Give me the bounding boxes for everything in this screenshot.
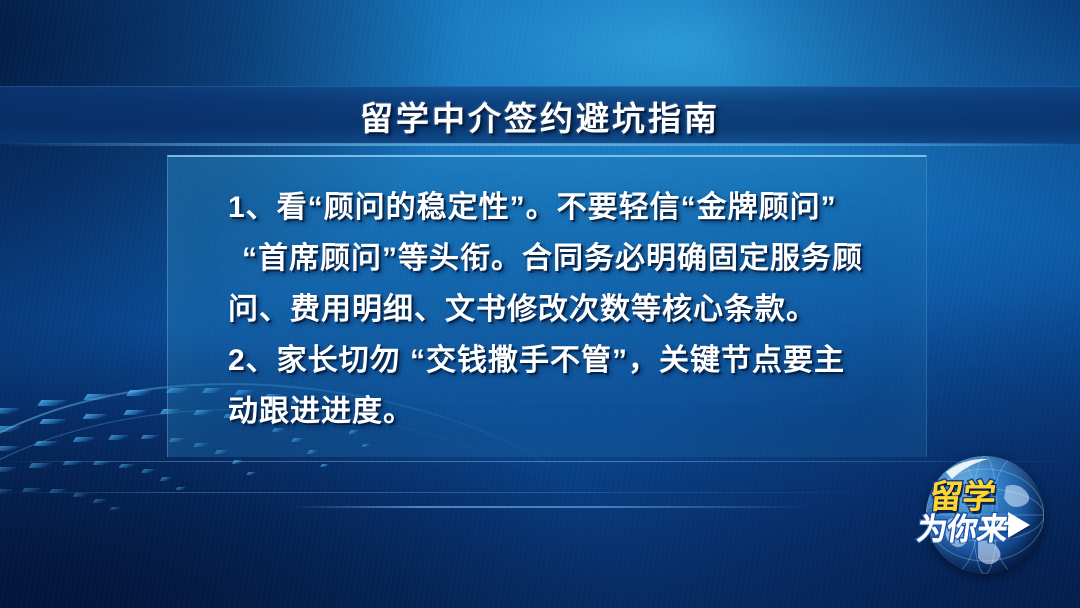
logo-arrow-icon [1008,512,1030,538]
body-line: 1、看“顾问的稳定性”。不要轻信“金牌顾问” [228,182,928,233]
logo-bottom-text: 为你来 [915,504,1011,548]
body-line: “首席顾问”等头衔。合同务必明确固定服务顾 [228,233,928,284]
body-line: 问、费用明细、文书修改次数等核心条款。 [228,284,928,335]
channel-logo: 留学 留学 为你来 为你来 [912,448,1060,588]
body-text-block: 1、看“顾问的稳定性”。不要轻信“金牌顾问” “首席顾问”等头衔。合同务必明确固… [228,182,928,437]
body-line: 2、家长切勿 “交钱撒手不管”，关键节点要主 [228,335,928,386]
broadcast-slide: 留学中介签约避坑指南 1、看“顾问的稳定性”。不要轻信“金牌顾问” “首席顾问”… [0,0,1080,608]
page-title: 留学中介签约避坑指南 [0,92,1080,140]
body-line: 动跟进进度。 [228,386,928,437]
